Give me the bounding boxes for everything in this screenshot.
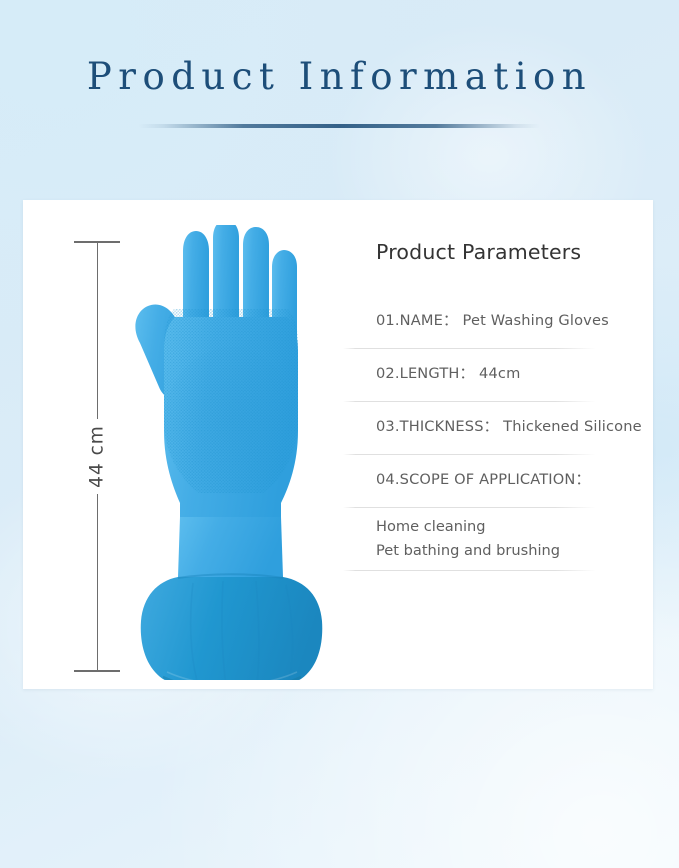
param-row-thickness: 03.THICKNESS： Thickened Silicone — [330, 401, 630, 454]
param-row-name: 01.NAME： Pet Washing Gloves — [330, 295, 630, 348]
param-divider-5 — [343, 570, 596, 571]
param-text-name: 01.NAME： Pet Washing Gloves — [376, 310, 609, 333]
scope-line-1: Home cleaning — [376, 515, 560, 539]
param-divider-4 — [343, 507, 596, 508]
param-label-scope: 04.SCOPE OF APPLICATION： — [376, 471, 590, 488]
param-divider-3 — [343, 454, 596, 455]
product-information-page: Product Information 44 cm — [0, 0, 679, 868]
scope-line-2: Pet bathing and brushing — [376, 539, 560, 563]
param-value-length: 44cm — [479, 365, 520, 382]
param-value-name: Pet Washing Gloves — [463, 312, 609, 329]
scope-lines: Home cleaning Pet bathing and brushing — [376, 515, 560, 562]
param-row-scope: 04.SCOPE OF APPLICATION： — [330, 454, 630, 507]
param-divider-2 — [343, 401, 596, 402]
dimension-line: 44 cm — [74, 241, 120, 672]
page-title: Product Information — [0, 56, 679, 99]
dimension-stem-lower — [97, 494, 99, 672]
param-row-length: 02.LENGTH： 44cm — [330, 348, 630, 401]
param-label-length: 02.LENGTH： — [376, 365, 474, 382]
param-text-thickness: 03.THICKNESS： Thickened Silicone — [376, 416, 642, 439]
param-text-length: 02.LENGTH： 44cm — [376, 363, 520, 386]
glove-illustration — [123, 225, 338, 680]
dimension-cap-bottom — [74, 670, 120, 672]
title-underline-rule — [139, 124, 540, 128]
parameters-panel: Product Parameters 01.NAME： Pet Washing … — [330, 240, 630, 569]
glove-image — [123, 225, 338, 680]
param-value-thickness: Thickened Silicone — [503, 418, 642, 435]
param-label-name: 01.NAME： — [376, 312, 458, 329]
dimension-stem-upper — [97, 241, 99, 419]
param-row-scope-details: Home cleaning Pet bathing and brushing — [330, 507, 630, 569]
param-label-thickness: 03.THICKNESS： — [376, 418, 498, 435]
title-block: Product Information — [0, 56, 679, 99]
parameters-heading: Product Parameters — [376, 240, 630, 264]
param-text-scope: 04.SCOPE OF APPLICATION： — [376, 469, 590, 492]
param-divider-1 — [343, 348, 596, 349]
product-card: 44 cm — [23, 200, 653, 689]
